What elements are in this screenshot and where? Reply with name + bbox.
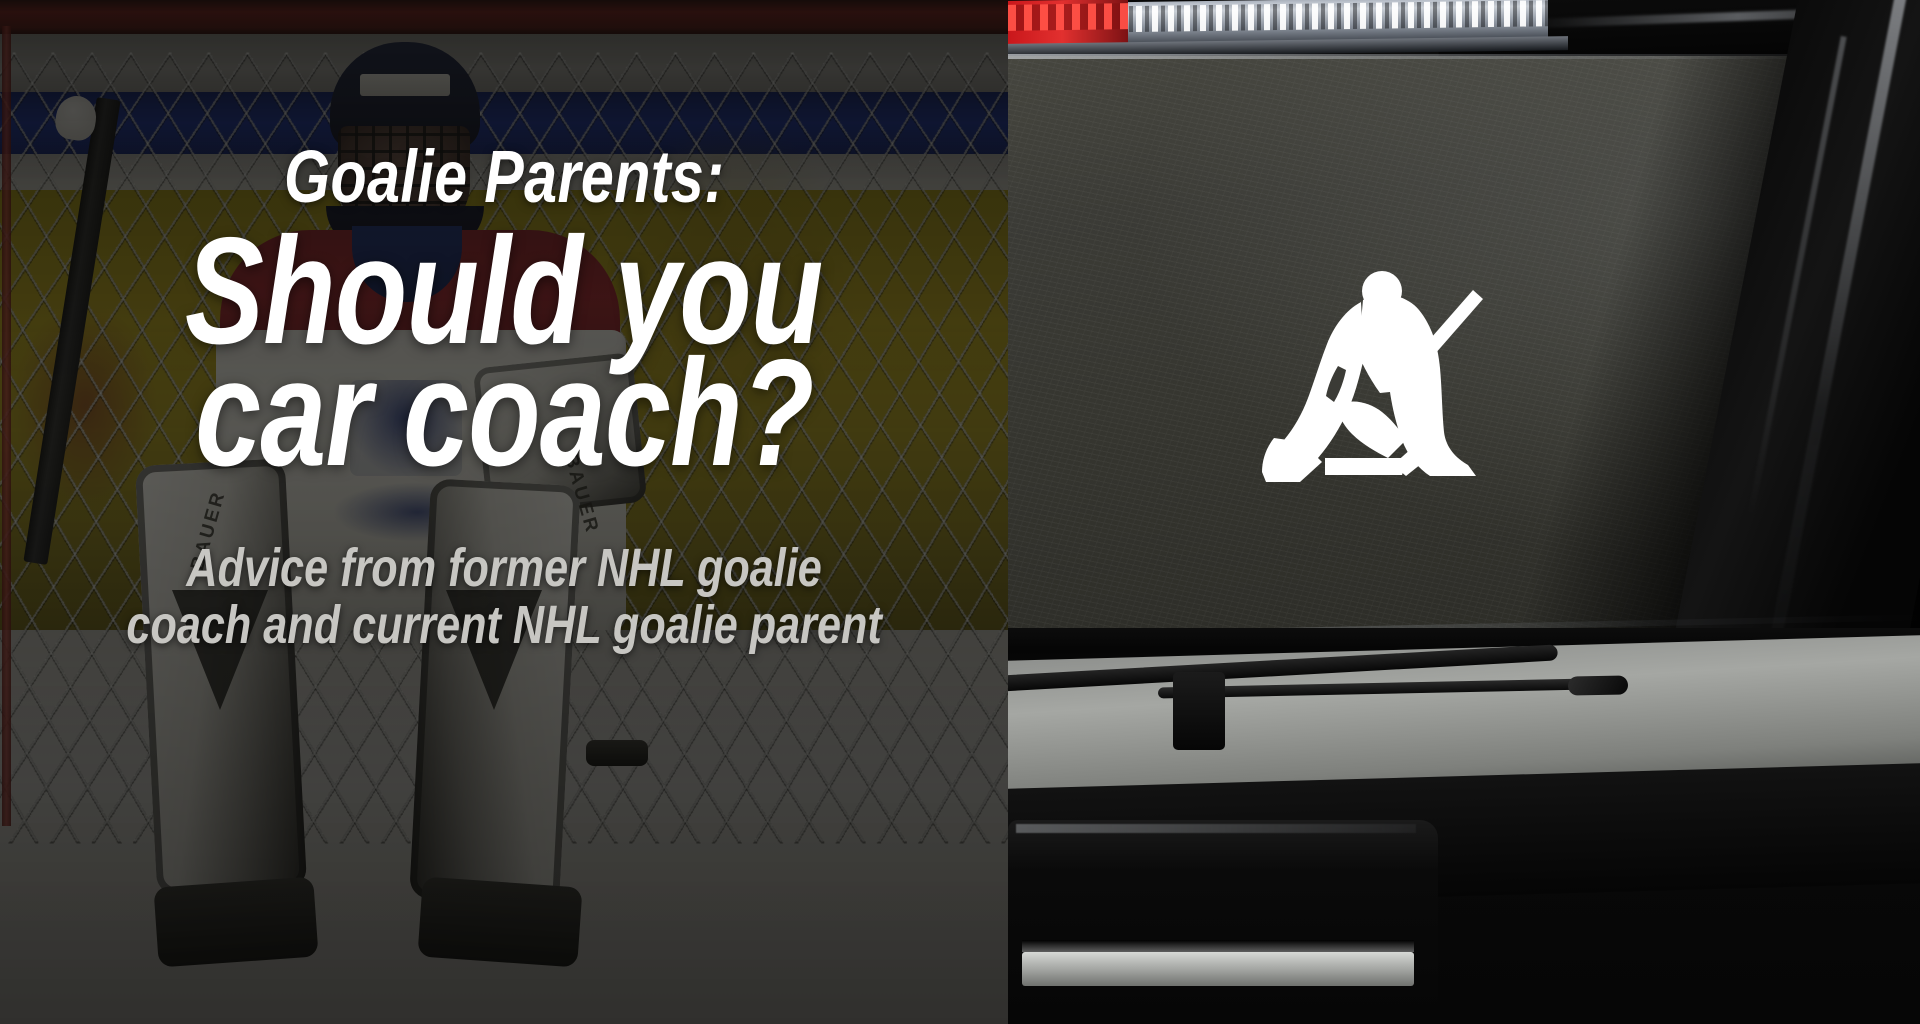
article-hero-banner: BAUER BAUER Goalie Parents: Should you c… xyxy=(0,0,1920,1024)
license-plate-housing xyxy=(1008,820,1438,1024)
brake-light-red-leds xyxy=(1008,3,1128,31)
rear-wiper-tip xyxy=(1568,675,1628,695)
left-photo-panel: BAUER BAUER Goalie Parents: Should you c… xyxy=(0,0,1008,1024)
license-plate-shadow xyxy=(1022,940,1414,952)
kicker-text: Goalie Parents: xyxy=(284,142,724,212)
right-photo-panel xyxy=(1008,0,1920,1024)
subtitle-line-2: coach and current NHL goalie parent xyxy=(126,597,881,654)
license-plate-chrome-trim xyxy=(1022,952,1414,986)
subtitle-line-1: Advice from former NHL goalie xyxy=(126,540,881,597)
license-plate-lip-highlight xyxy=(1016,824,1416,833)
headline-line-2: car coach? xyxy=(195,344,813,484)
goalie-decal-icon xyxy=(1230,262,1490,510)
rear-wiper-pivot xyxy=(1173,672,1225,750)
subtitle-block: Advice from former NHL goalie coach and … xyxy=(126,540,881,654)
headline-copy-block: Goalie Parents: Should you car coach? Ad… xyxy=(0,0,1008,1024)
